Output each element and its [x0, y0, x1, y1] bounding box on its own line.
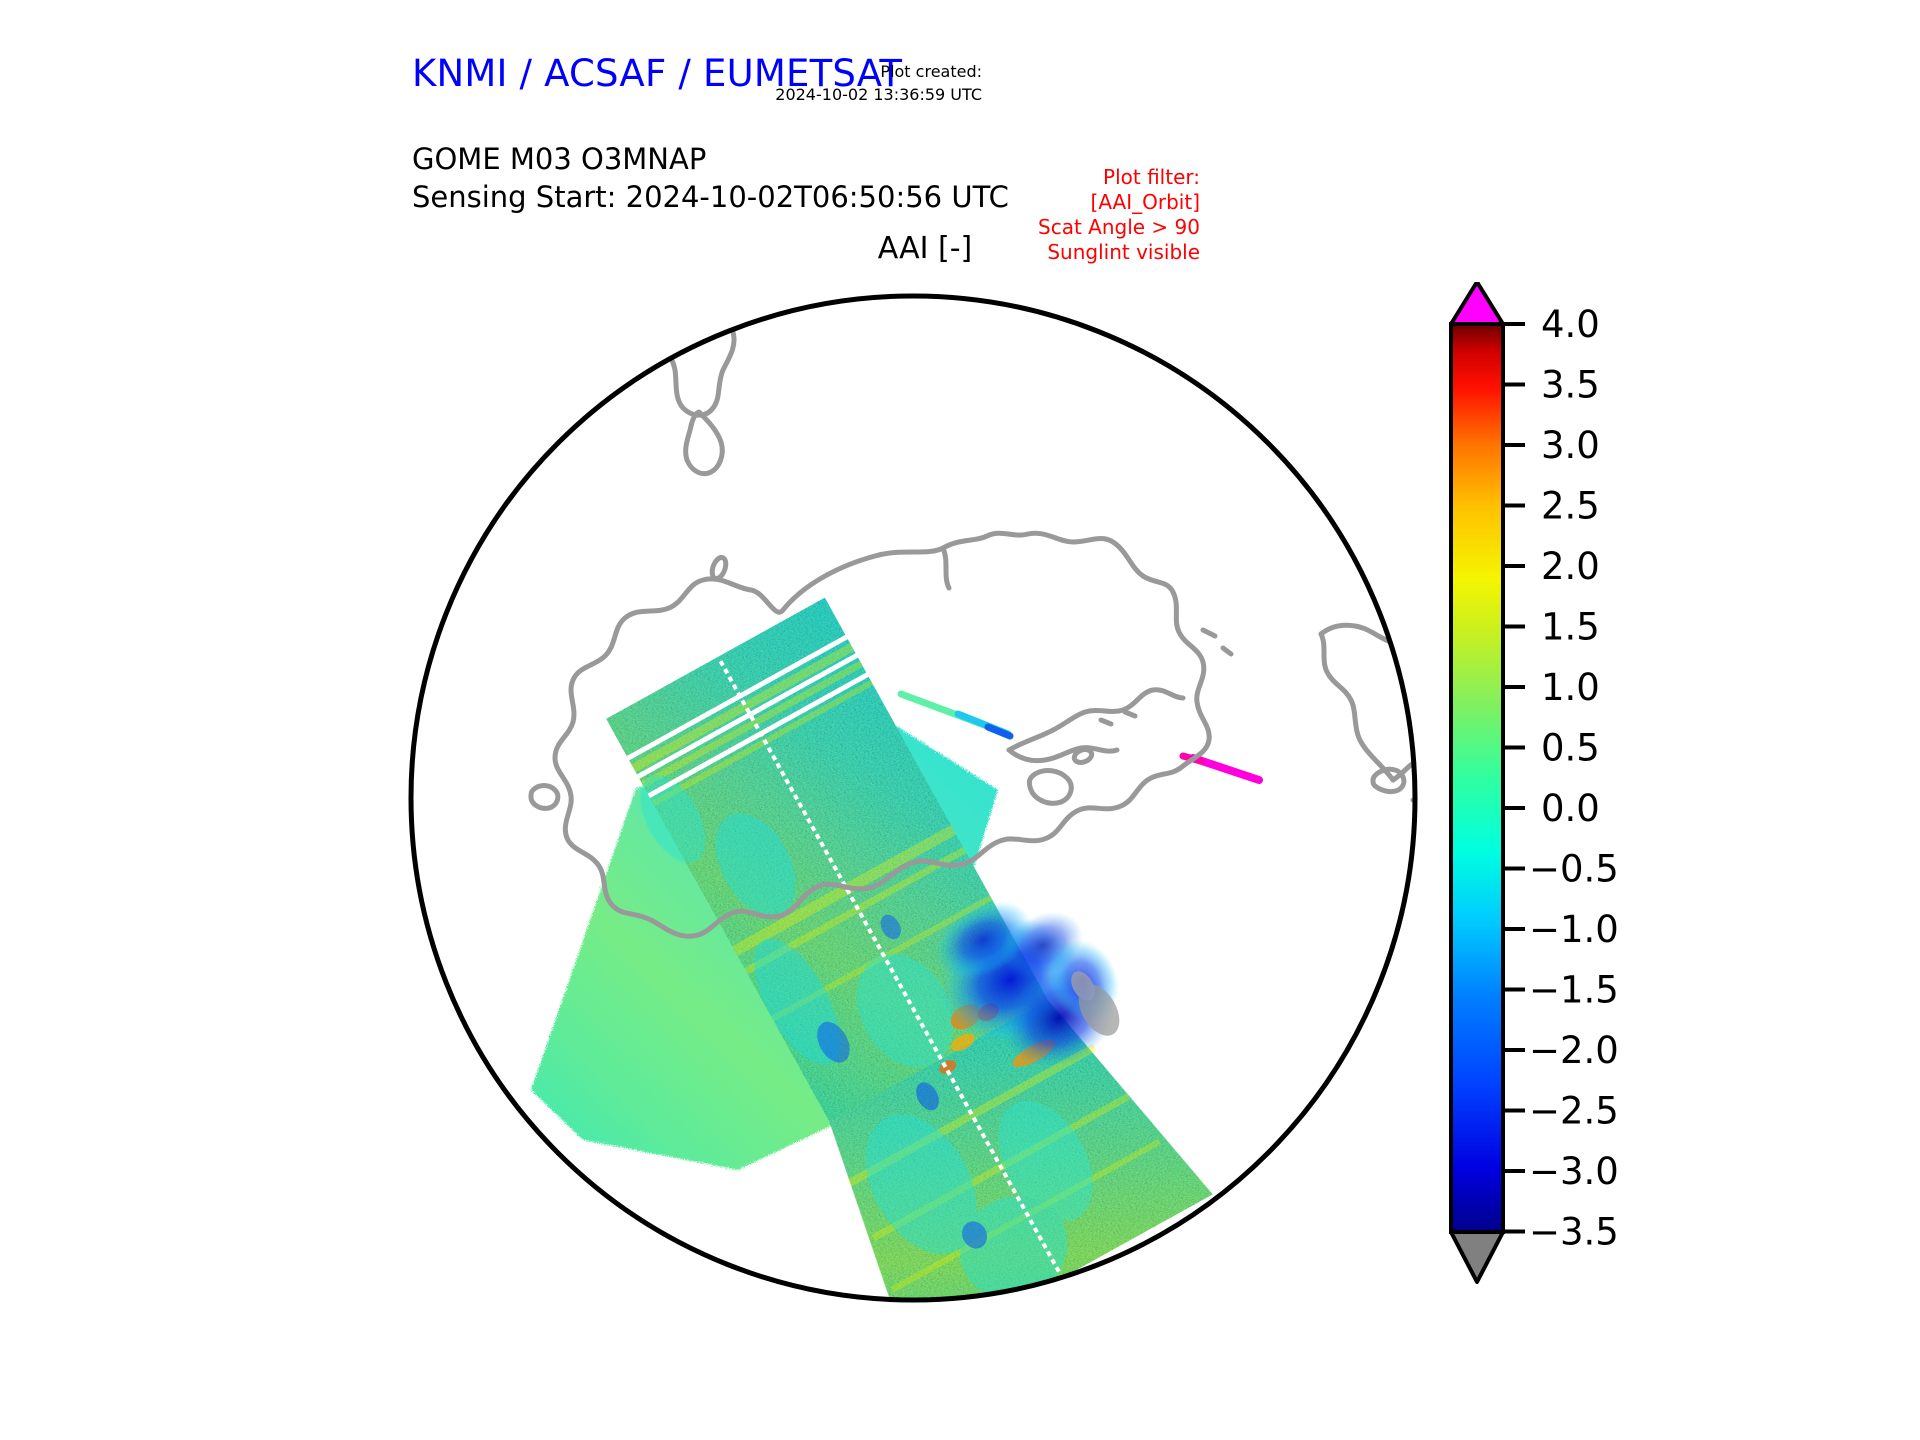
cb-label-4: 2.0: [1541, 545, 1600, 588]
plot-title-text: AAI [-]: [878, 231, 973, 266]
polar-map[interactable]: [383, 280, 1443, 1315]
cb-label-6: 1.0: [1541, 666, 1600, 709]
sensing-start-line: Sensing Start: 2024-10-02T06:50:56 UTC: [412, 178, 1009, 216]
filter-line-0: Plot filter:: [1038, 165, 1200, 190]
cb-label-9: −0.5: [1529, 848, 1619, 891]
cb-label-1: 3.5: [1541, 364, 1600, 407]
cb-label-14: −3.0: [1529, 1150, 1619, 1193]
filter-line-3: Sunglint visible: [1038, 240, 1200, 265]
colorbar-over-arrow: [1451, 282, 1503, 324]
instrument-line: GOME M03 O3MNAP: [412, 140, 1009, 178]
cb-label-11: −1.5: [1529, 969, 1619, 1012]
cb-label-8: 0.0: [1541, 787, 1600, 830]
cb-label-12: −2.0: [1529, 1029, 1619, 1072]
dataset-info-block: GOME M03 O3MNAP Sensing Start: 2024-10-0…: [412, 140, 1009, 216]
plot-created-block: Plot created: 2024-10-02 13:36:59 UTC: [775, 60, 982, 106]
cb-label-2: 3.0: [1541, 424, 1600, 467]
cb-label-7: 0.5: [1541, 727, 1600, 770]
cb-label-3: 2.5: [1541, 485, 1600, 528]
colorbar-under-arrow: [1451, 1232, 1503, 1282]
plot-filter-block: Plot filter: [AAI_Orbit] Scat Angle > 90…: [1038, 165, 1200, 265]
cb-label-13: −2.5: [1529, 1090, 1619, 1133]
filter-line-2: Scat Angle > 90: [1038, 215, 1200, 240]
cb-label-5: 1.5: [1541, 606, 1600, 649]
cb-label-10: −1.0: [1529, 908, 1619, 951]
cb-label-15: −3.5: [1529, 1211, 1619, 1254]
colorbar-tick-labels: 4.0 3.5 3.0 2.5 2.0 1.5 1.0 0.5 0.0 −0.5…: [1529, 303, 1619, 1254]
filter-line-1: [AAI_Orbit]: [1038, 190, 1200, 215]
plot-created-label: Plot created:: [775, 60, 982, 83]
colorbar[interactable]: 4.0 3.5 3.0 2.5 2.0 1.5 1.0 0.5 0.0 −0.5…: [1437, 282, 1837, 1312]
colorbar-gradient: [1451, 324, 1503, 1232]
plot-title: AAI [-]: [0, 231, 1920, 266]
colorbar-ticks: [1503, 324, 1525, 1232]
cb-label-0: 4.0: [1541, 303, 1600, 346]
plot-created-value: 2024-10-02 13:36:59 UTC: [775, 83, 982, 106]
